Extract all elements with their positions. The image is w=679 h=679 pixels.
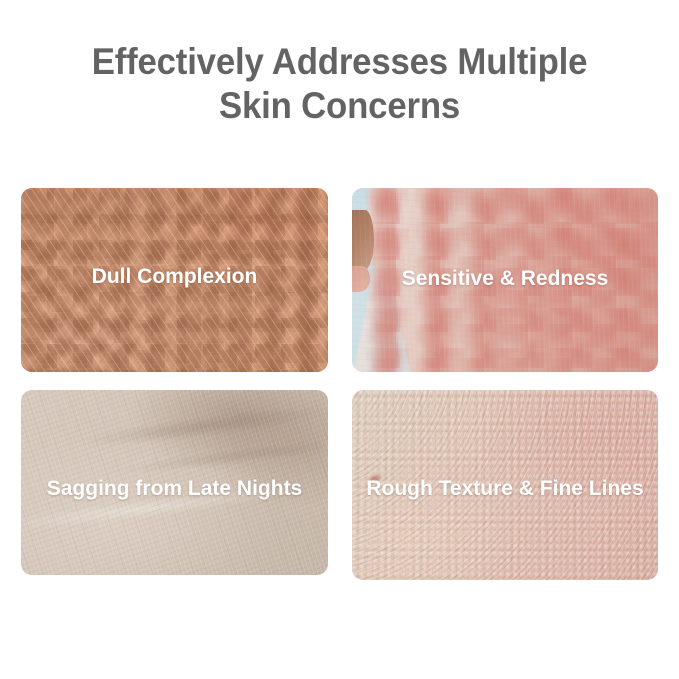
concern-card-sagging-late-nights: Sagging from Late Nights (21, 390, 328, 575)
concern-label-sensitive-redness: Sensitive & Redness (352, 266, 658, 292)
concern-label-sagging-late-nights: Sagging from Late Nights (21, 476, 328, 502)
promo-page: Effectively Addresses Multiple Skin Conc… (0, 0, 679, 679)
page-title: Effectively Addresses Multiple Skin Conc… (20, 40, 658, 128)
concern-card-sensitive-redness: Sensitive & Redness (352, 188, 658, 372)
concern-card-dull-complexion: Dull Complexion (21, 188, 328, 372)
concern-label-rough-texture-fine-lines: Rough Texture & Fine Lines (352, 476, 658, 502)
page-title-line-1: Effectively Addresses Multiple (20, 40, 658, 84)
concern-label-dull-complexion: Dull Complexion (21, 264, 328, 290)
concern-card-rough-texture-fine-lines: Rough Texture & Fine Lines (352, 390, 658, 580)
page-title-line-2: Skin Concerns (20, 84, 658, 128)
skin-concern-grid: Dull Complexion Sensitive & Redness Sagg… (21, 188, 658, 580)
